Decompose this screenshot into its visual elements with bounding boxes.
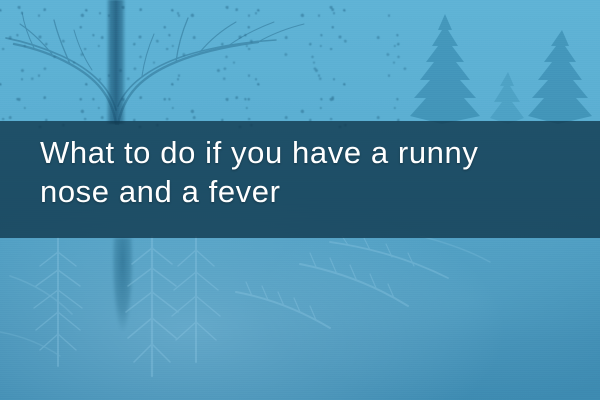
lower-foliage-graphic [0,236,600,400]
tree-trunk-lower [96,238,142,368]
tree-trunk-upper [106,0,126,124]
page-title: What to do if you have a runny nose and … [40,133,580,211]
conifer-silhouettes [0,0,600,124]
title-line-2: nose and a fever [40,172,580,211]
deciduous-canopy-texture [0,0,410,128]
tree-branches-graphic [0,0,400,126]
title-line-1: What to do if you have a runny [40,133,580,172]
article-header-banner: What to do if you have a runny nose and … [0,0,600,400]
